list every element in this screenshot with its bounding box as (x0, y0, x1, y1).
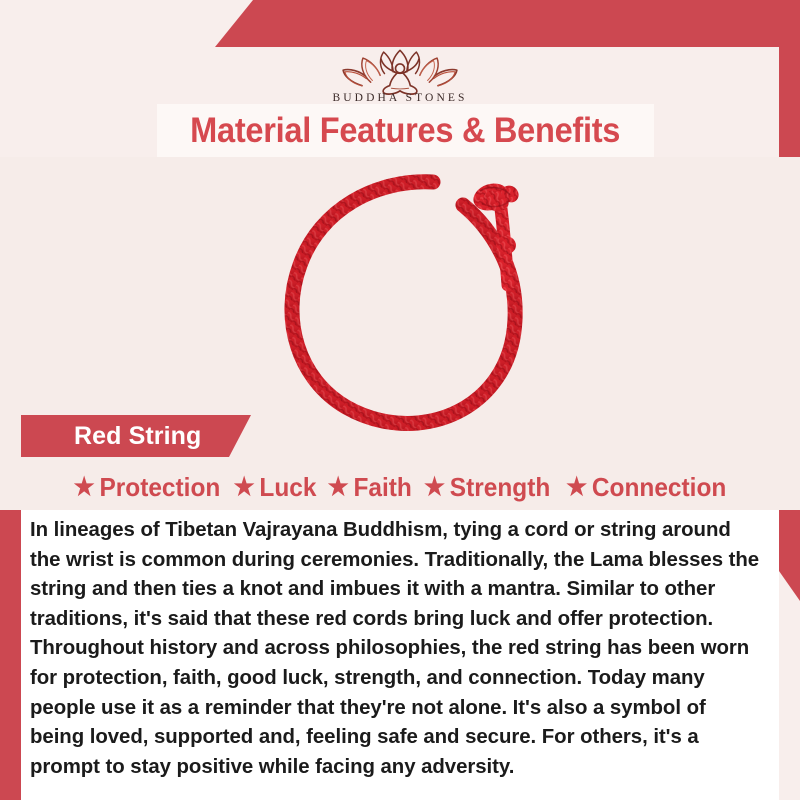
star-icon: ★ (424, 475, 445, 500)
description-text: In lineages of Tibetan Vajrayana Buddhis… (21, 510, 779, 782)
feature-item-faith: ★ Faith (325, 474, 415, 500)
feature-item-protection: ★ Protection (71, 474, 223, 500)
star-icon: ★ (233, 475, 254, 500)
red-string-bracelet-image (258, 167, 578, 467)
star-icon: ★ (73, 475, 94, 500)
brand-wordmark: BUDDHA STONES (333, 92, 468, 104)
title-banner: Material Features & Benefits (157, 104, 654, 157)
red-string-tag: Red String (21, 415, 251, 457)
star-icon: ★ (328, 475, 349, 500)
feature-list: ★ Protection ★ Luck ★ Faith ★ Strength ★… (0, 466, 800, 508)
tag-label: Red String (74, 422, 201, 451)
feature-item-connection: ★ Connection (563, 474, 729, 500)
feature-label: Connection (592, 474, 726, 500)
infographic-page: BUDDHA STONES Material Features & Benefi… (0, 0, 800, 800)
feature-label: Faith (353, 474, 411, 500)
feature-item-strength: ★ Strength (422, 474, 554, 500)
feature-label: Protection (99, 474, 220, 500)
feature-label: Luck (259, 474, 316, 500)
star-icon: ★ (566, 475, 587, 500)
lotus-meditation-icon (326, 46, 474, 96)
top-red-band (215, 0, 800, 47)
page-title: Material Features & Benefits (191, 111, 621, 151)
feature-item-luck: ★ Luck (231, 474, 319, 500)
description-panel: In lineages of Tibetan Vajrayana Buddhis… (21, 510, 779, 800)
product-photo-area (0, 157, 800, 510)
feature-label: Strength (450, 474, 550, 500)
brand-logo: BUDDHA STONES (0, 52, 800, 104)
